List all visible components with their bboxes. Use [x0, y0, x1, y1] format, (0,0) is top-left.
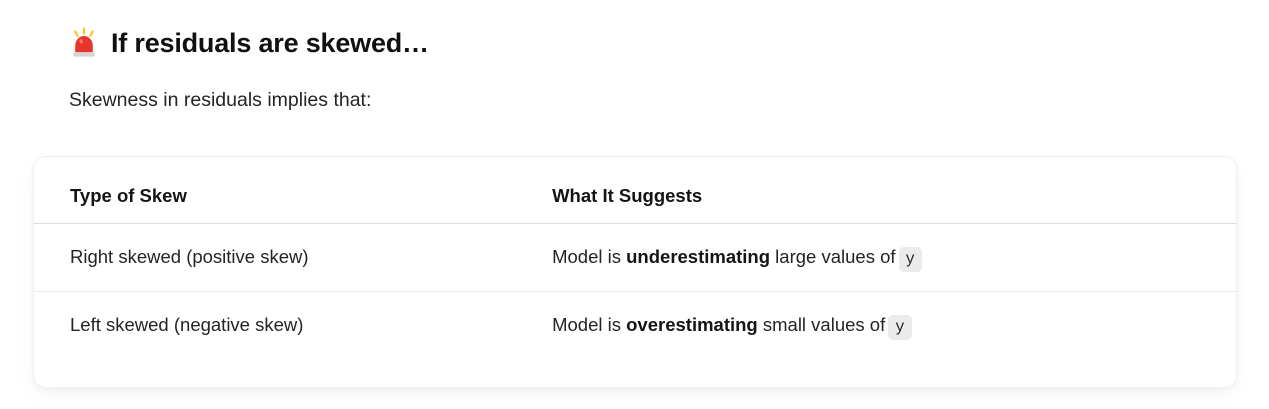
suggests-suffix: large values of: [770, 246, 895, 267]
page-title-regular: If residuals are: [111, 28, 306, 58]
skew-table: Type of Skew What It Suggests Right skew…: [34, 157, 1236, 359]
column-header-type-of-skew: Type of Skew: [34, 157, 552, 223]
table-row: Right skewed (positive skew) Model is un…: [34, 223, 1236, 291]
skew-table-card: Type of Skew What It Suggests Right skew…: [33, 156, 1237, 388]
table-header-row: Type of Skew What It Suggests: [34, 157, 1236, 223]
suggests-emphasis: underestimating: [626, 246, 770, 267]
suggests-emphasis: overestimating: [626, 314, 758, 335]
table-body: Right skewed (positive skew) Model is un…: [34, 223, 1236, 359]
code-chip-y: y: [888, 315, 911, 340]
intro-paragraph: Skewness in residuals implies that:: [69, 85, 371, 115]
cell-skew-suggests: Model is overestimating small values ofy: [552, 291, 1236, 359]
column-header-what-it-suggests: What It Suggests: [552, 157, 1236, 223]
page-title-emphasis: skewed…: [306, 28, 429, 58]
suggests-suffix: small values of: [758, 314, 886, 335]
cell-skew-suggests: Model is underestimating large values of…: [552, 223, 1236, 291]
cell-skew-type: Left skewed (negative skew): [34, 291, 552, 359]
code-chip-y: y: [899, 247, 922, 272]
table-header: Type of Skew What It Suggests: [34, 157, 1236, 223]
suggests-prefix: Model is: [552, 314, 626, 335]
page-title: If residuals are skewed…: [69, 24, 429, 62]
table-row: Left skewed (negative skew) Model is ove…: [34, 291, 1236, 359]
suggests-prefix: Model is: [552, 246, 626, 267]
rotating-light-icon: [69, 27, 99, 59]
cell-skew-type: Right skewed (positive skew): [34, 223, 552, 291]
